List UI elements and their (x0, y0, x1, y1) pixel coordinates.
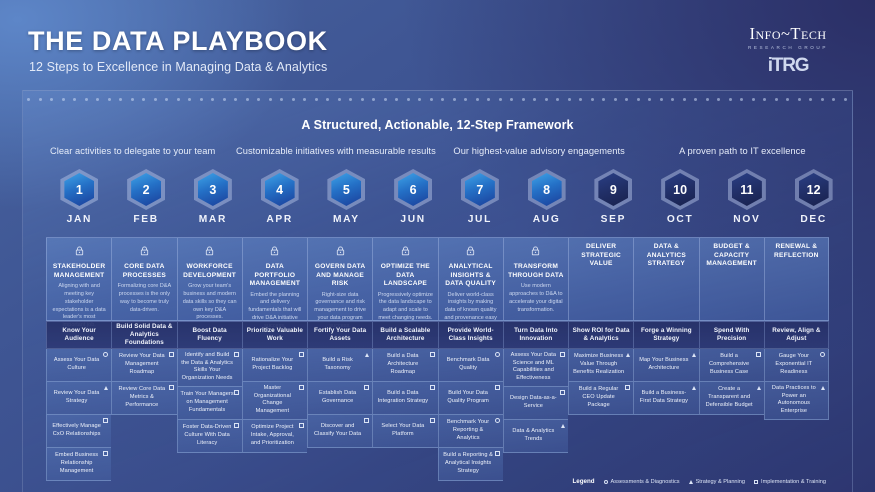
purpose-card[interactable]: ANALYTICAL INSIGHTS & DATA QUALITYDelive… (438, 237, 503, 321)
square-marker-icon (430, 385, 435, 390)
purpose-card[interactable]: TRANSFORM THROUGH DATAUse modern approac… (503, 237, 568, 321)
month-label: JUN (400, 214, 425, 225)
initiative-label: Gauge Your Exponential IT Readiness (768, 353, 820, 376)
initiative-list: Build a Data Architecture RoadmapBuild a… (372, 349, 437, 448)
initiative-card[interactable]: Benchmark Data Quality (438, 349, 503, 382)
theme-band[interactable]: Build a Scalable Architecture (372, 321, 437, 349)
logo-tagline: RESEARCH GROUP (723, 45, 853, 50)
triangle-marker-icon (821, 386, 825, 390)
purpose-title: WORKFORCE DEVELOPMENT (182, 263, 238, 280)
hex-badge[interactable]: 12 (795, 169, 833, 210)
step-column-8: TRANSFORM THROUGH DATAUse modern approac… (503, 237, 568, 492)
initiative-label: Create a Transparent and Defensible Budg… (703, 386, 756, 409)
legend-item: Strategy & Planning (689, 479, 745, 485)
month-step-may[interactable]: 5MAY (313, 169, 380, 231)
perforation-strip (23, 95, 852, 104)
square-marker-icon (103, 451, 108, 456)
square-marker-icon (299, 352, 304, 357)
step-column-12: RENEWAL & REFLECTIONReview, Align & Adju… (764, 237, 829, 492)
purpose-card[interactable]: GOVERN DATA AND MANAGE RISKRight-size da… (307, 237, 372, 321)
initiative-label: Build a Business-First Data Strategy (637, 390, 690, 405)
initiative-card[interactable]: Rationalize Your Project Backlog (242, 349, 307, 382)
initiative-list: Maximize Business Value Through Benefits… (568, 349, 633, 415)
purpose-card[interactable]: DATA & ANALYTICS STRATEGY (633, 237, 698, 321)
perforation-dot (372, 98, 375, 101)
initiative-card[interactable]: Build Your Data Quality Program (438, 382, 503, 415)
triangle-marker-icon (692, 386, 696, 390)
perforation-dot (798, 98, 801, 101)
theme-label: Provide World-Class Insights (442, 327, 500, 343)
step-column-7: ANALYTICAL INSIGHTS & DATA QUALITYDelive… (438, 237, 503, 492)
brand-logo: Info~Tech RESEARCH GROUP iTRG (723, 24, 853, 77)
initiative-list: Rationalize Your Project BacklogMaster O… (242, 349, 307, 453)
legend: Legend Assessments & Diagnostics Strateg… (573, 478, 826, 485)
hex-badge[interactable]: 10 (661, 169, 699, 210)
perforation-dot (660, 98, 663, 101)
perforation-dot (453, 98, 456, 101)
month-label: NOV (733, 214, 760, 225)
perforation-dot (694, 98, 697, 101)
page-title: THE DATA PLAYBOOK (28, 26, 328, 57)
purpose-title: ANALYTICAL INSIGHTS & DATA QUALITY (443, 263, 499, 289)
perforation-dot (637, 98, 640, 101)
perforation-dot (683, 98, 686, 101)
perforation-dot (326, 98, 329, 101)
benefit-statement: Clear activities to delegate to your tea… (31, 146, 234, 156)
hex-badge[interactable]: 6 (394, 169, 432, 210)
poster-background: THE DATA PLAYBOOK 12 Steps to Excellence… (0, 0, 875, 492)
purpose-title: BUDGET & CAPACITY MANAGEMENT (704, 243, 760, 269)
perforation-dot (50, 98, 53, 101)
theme-band[interactable]: Provide World-Class Insights (438, 321, 503, 349)
initiative-card[interactable]: Build a Business-First Data Strategy (633, 382, 698, 415)
theme-band[interactable]: Fortify Your Data Assets (307, 321, 372, 349)
square-marker-icon (495, 451, 500, 456)
initiative-card[interactable]: Discover and Classify Your Data (307, 415, 372, 448)
initiative-label: Design Data-as-a-Service (507, 395, 560, 410)
initiative-card[interactable]: Design Data-as-a-Service (503, 387, 568, 420)
initiative-list: Review Your Data Management RoadmapRevie… (111, 349, 176, 415)
initiative-card[interactable]: Assess Your Data Science and ML Capabili… (503, 349, 568, 387)
initiative-list: Assess Your Data CultureReview Your Data… (46, 349, 111, 481)
initiative-card[interactable]: Train Your Managers on Management Fundam… (177, 387, 242, 420)
circle-marker-icon (495, 418, 500, 423)
theme-label: Know Your Audience (50, 327, 108, 343)
perforation-dot (464, 98, 467, 101)
legend-item: Assessments & Diagnostics (604, 479, 680, 485)
month-step-jan[interactable]: 1JAN (46, 169, 113, 231)
perforation-dot (568, 98, 571, 101)
hex-badge[interactable]: 4 (261, 169, 299, 210)
square-marker-icon (234, 390, 239, 395)
hex-badge[interactable]: 2 (127, 169, 165, 210)
perforation-dot (165, 98, 168, 101)
initiative-label: Establish Data Governance (311, 390, 364, 405)
month-label: JUL (468, 214, 492, 225)
perforation-dot (556, 98, 559, 101)
initiative-card[interactable]: Map Your Business Architecture (633, 349, 698, 382)
perforation-dot (763, 98, 766, 101)
perforation-dot (223, 98, 226, 101)
initiative-list: Build a Risk TaxonomyEstablish Data Gove… (307, 349, 372, 448)
perforation-dot (706, 98, 709, 101)
perforation-dot (188, 98, 191, 101)
step-column-1: STAKEHOLDER MANAGEMENTAligning with and … (46, 237, 111, 492)
perforation-dot (844, 98, 847, 101)
perforation-dot (269, 98, 272, 101)
initiative-label: Review Your Data Strategy (50, 390, 103, 405)
perforation-dot (211, 98, 214, 101)
benefits-row: Clear activities to delegate to your tea… (31, 146, 844, 156)
theme-label: Turn Data Into Innovation (507, 327, 565, 343)
perforation-dot (614, 98, 617, 101)
legend-item: Implementation & Training (754, 479, 826, 485)
perforation-dot (246, 98, 249, 101)
purpose-title: OPTIMIZE THE DATA LANDSCAPE (377, 263, 433, 289)
purpose-card[interactable]: DELIVER STRATEGIC VALUE (568, 237, 633, 321)
lock-icon (140, 243, 149, 261)
circle-marker-icon (103, 352, 108, 357)
initiative-label: Select Your Data Platform (376, 423, 429, 438)
purpose-description: Grow your team's business and modern dat… (182, 283, 238, 322)
square-marker-icon (495, 385, 500, 390)
initiative-label: Data & Analytics Trends (507, 428, 560, 443)
month-label: APR (266, 214, 293, 225)
purpose-description: Use modern approaches to D&A to accelera… (508, 283, 564, 314)
initiative-label: Build a Reporting & Analytical Insights … (442, 452, 495, 475)
square-marker-icon (364, 385, 369, 390)
purpose-card[interactable]: WORKFORCE DEVELOPMENTGrow your team's bu… (177, 237, 242, 321)
initiative-label: Build a Data Integration Strategy (376, 390, 429, 405)
initiative-card[interactable]: Foster Data-Driven Culture With Data Lit… (177, 420, 242, 453)
month-label: DEC (800, 214, 827, 225)
month-label: JAN (67, 214, 92, 225)
perforation-dot (809, 98, 812, 101)
lock-icon (270, 243, 279, 261)
month-label: AUG (533, 214, 561, 225)
circle-marker-icon (495, 352, 500, 357)
initiative-card[interactable]: Gauge Your Exponential IT Readiness (764, 349, 829, 382)
legend-item-label: Assessments & Diagnostics (611, 479, 680, 485)
square-marker-icon (756, 352, 761, 357)
theme-band[interactable]: Turn Data Into Innovation (503, 321, 568, 349)
hex-badge[interactable]: 1 (60, 169, 98, 210)
perforation-dot (510, 98, 513, 101)
initiative-card[interactable]: Build a Data Integration Strategy (372, 382, 437, 415)
perforation-dot (119, 98, 122, 101)
theme-label: Show ROI for Data & Analytics (572, 327, 630, 343)
framework-panel: A Structured, Actionable, 12-Step Framew… (22, 90, 853, 492)
month-label: OCT (667, 214, 694, 225)
square-marker-icon (234, 352, 239, 357)
initiative-card[interactable]: Establish Data Governance (307, 382, 372, 415)
initiative-list: Assess Your Data Science and ML Capabili… (503, 349, 568, 453)
perforation-dot (441, 98, 444, 101)
perforation-dot (522, 98, 525, 101)
initiative-card[interactable]: Identify and Build the Data & Analytics … (177, 349, 242, 387)
perforation-dot (740, 98, 743, 101)
square-marker-icon (754, 480, 758, 484)
benefit-statement: Customizable initiatives with measurable… (234, 146, 437, 156)
purpose-title: DELIVER STRATEGIC VALUE (573, 243, 629, 269)
initiative-card[interactable]: Select Your Data Platform (372, 415, 437, 448)
triangle-marker-icon (365, 353, 369, 357)
perforation-dot (499, 98, 502, 101)
theme-label: Prioritize Valuable Work (246, 327, 304, 343)
step-column-4: DATA PORTFOLIO MANAGEMENTEmbed the plann… (242, 237, 307, 492)
purpose-card[interactable]: BUDGET & CAPACITY MANAGEMENT (699, 237, 764, 321)
triangle-marker-icon (561, 424, 565, 428)
hex-badge[interactable]: 3 (194, 169, 232, 210)
logo-wordmark: Info~Tech (723, 24, 853, 44)
purpose-card[interactable]: RENEWAL & REFLECTION (764, 237, 829, 321)
initiative-card[interactable]: Review Your Data Strategy (46, 382, 111, 415)
purpose-description: Formalizing core D&A processes is the on… (116, 283, 172, 314)
initiative-label: Optimize Project Intake, Approval, and P… (246, 424, 299, 447)
initiative-card[interactable]: Effectively Manage CxO Relationships (46, 415, 111, 448)
perforation-dot (27, 98, 30, 101)
initiative-card[interactable]: Build a Regular CEO Update Package (568, 382, 633, 415)
perforation-dot (234, 98, 237, 101)
initiative-card[interactable]: Review Core Data Metrics & Performance (111, 382, 176, 415)
theme-band[interactable]: Prioritize Valuable Work (242, 321, 307, 349)
perforation-dot (292, 98, 295, 101)
initiative-card[interactable]: Benchmark Your Reporting & Analytics (438, 415, 503, 448)
theme-label: Boost Data Fluency (181, 327, 239, 343)
initiative-label: Rationalize Your Project Backlog (246, 357, 299, 372)
step-column-3: WORKFORCE DEVELOPMENTGrow your team's bu… (177, 237, 242, 492)
initiative-list: Map Your Business ArchitectureBuild a Bu… (633, 349, 698, 415)
purpose-title: CORE DATA PROCESSES (116, 263, 172, 280)
month-step-mar[interactable]: 3MAR (180, 169, 247, 231)
initiative-label: Discover and Classify Your Data (311, 423, 364, 438)
perforation-dot (832, 98, 835, 101)
theme-band[interactable]: Show ROI for Data & Analytics (568, 321, 633, 349)
perforation-dot (39, 98, 42, 101)
theme-label: Spend With Precision (703, 327, 761, 343)
hex-badge[interactable]: 9 (594, 169, 632, 210)
initiative-label: Map Your Business Architecture (637, 357, 690, 372)
benefit-statement: Our highest-value advisory engagements (438, 146, 641, 156)
initiative-label: Review Core Data Metrics & Performance (115, 386, 168, 409)
perforation-dot (108, 98, 111, 101)
initiative-label: Assess Your Data Science and ML Capabili… (507, 352, 560, 383)
perforation-dot (96, 98, 99, 101)
lock-icon (140, 246, 149, 256)
lock-icon (205, 243, 214, 261)
perforation-dot (315, 98, 318, 101)
month-step-feb[interactable]: 2FEB (113, 169, 180, 231)
initiative-label: Foster Data-Driven Culture With Data Lit… (181, 424, 234, 447)
lock-icon (466, 246, 475, 256)
purpose-title: DATA & ANALYTICS STRATEGY (638, 243, 694, 269)
perforation-dot (602, 98, 605, 101)
step-column-10: DATA & ANALYTICS STRATEGYForge a Winning… (633, 237, 698, 492)
month-step-dec[interactable]: 12DEC (780, 169, 847, 231)
theme-label: Review, Align & Adjust (768, 327, 825, 343)
initiative-label: Maximize Business Value Through Benefits… (572, 353, 625, 376)
lock-icon (336, 246, 345, 256)
perforation-dot (384, 98, 387, 101)
initiative-label: Identify and Build the Data & Analytics … (181, 352, 234, 383)
perforation-dot (73, 98, 76, 101)
page-subtitle: 12 Steps to Excellence in Managing Data … (29, 60, 327, 74)
step-column-6: OPTIMIZE THE DATA LANDSCAPEProgressively… (372, 237, 437, 492)
perforation-dot (430, 98, 433, 101)
legend-item-label: Strategy & Planning (696, 479, 745, 485)
purpose-title: RENEWAL & REFLECTION (769, 243, 824, 260)
perforation-dot (775, 98, 778, 101)
purpose-card[interactable]: STAKEHOLDER MANAGEMENTAligning with and … (46, 237, 111, 321)
perforation-dot (131, 98, 134, 101)
benefit-statement: A proven path to IT excellence (641, 146, 844, 156)
perforation-dot (579, 98, 582, 101)
perforation-dot (487, 98, 490, 101)
hex-badge[interactable]: 7 (461, 169, 499, 210)
lock-icon (336, 243, 345, 261)
perforation-dot (303, 98, 306, 101)
initiative-list: Gauge Your Exponential IT ReadinessData … (764, 349, 829, 420)
initiative-label: Build a Data Architecture Roadmap (376, 353, 429, 376)
purpose-card[interactable]: DATA PORTFOLIO MANAGEMENTEmbed the plann… (242, 237, 307, 321)
triangle-marker-icon (757, 386, 761, 390)
month-step-sep[interactable]: 9SEP (580, 169, 647, 231)
twelve-step-grid: STAKEHOLDER MANAGEMENTAligning with and … (46, 237, 829, 492)
perforation-dot (257, 98, 260, 101)
hex-badge[interactable]: 8 (528, 169, 566, 210)
initiative-label: Assess Your Data Culture (50, 357, 103, 372)
perforation-dot (62, 98, 65, 101)
initiative-card[interactable]: Review Your Data Management Roadmap (111, 349, 176, 382)
hex-badge[interactable]: 5 (327, 169, 365, 210)
square-marker-icon (103, 418, 108, 423)
square-marker-icon (625, 385, 630, 390)
square-marker-icon (560, 352, 565, 357)
triangle-marker-icon (104, 386, 108, 390)
purpose-title: STAKEHOLDER MANAGEMENT (51, 263, 107, 280)
perforation-dot (418, 98, 421, 101)
lock-icon (531, 243, 540, 261)
square-marker-icon (299, 423, 304, 428)
perforation-dot (625, 98, 628, 101)
month-step-oct[interactable]: 10OCT (647, 169, 714, 231)
perforation-dot (361, 98, 364, 101)
month-label: FEB (133, 214, 158, 225)
perforation-dot (154, 98, 157, 101)
initiative-card[interactable]: Build a Risk Taxonomy (307, 349, 372, 382)
initiative-list: Benchmark Data QualityBuild Your Data Qu… (438, 349, 503, 481)
theme-label: Build Solid Data & Analytics Foundations (115, 323, 173, 347)
perforation-dot (786, 98, 789, 101)
initiative-card[interactable]: Build a Reporting & Analytical Insights … (438, 448, 503, 481)
legend-title: Legend (573, 478, 595, 485)
purpose-title: GOVERN DATA AND MANAGE RISK (312, 263, 368, 289)
triangle-marker-icon (692, 353, 696, 357)
triangle-marker-icon (626, 353, 630, 357)
theme-label: Build a Scalable Architecture (376, 327, 434, 343)
initiative-card[interactable]: Data Practices to Power an Autonomous En… (764, 382, 829, 420)
initiative-label: Data Practices to Power an Autonomous En… (768, 385, 820, 416)
logo-mark-itrg: iTRG (723, 55, 853, 77)
perforation-dot (349, 98, 352, 101)
perforation-dot (476, 98, 479, 101)
step-column-11: BUDGET & CAPACITY MANAGEMENTSpend With P… (699, 237, 764, 492)
theme-band[interactable]: Review, Align & Adjust (764, 321, 829, 349)
square-marker-icon (299, 385, 304, 390)
initiative-card[interactable]: Create a Transparent and Defensible Budg… (699, 382, 764, 415)
month-step-aug[interactable]: 8AUG (513, 169, 580, 231)
month-label: MAY (333, 214, 360, 225)
initiative-label: Embed Business Relationship Management (50, 452, 103, 475)
initiative-card[interactable]: Build a Data Architecture Roadmap (372, 349, 437, 382)
step-column-9: DELIVER STRATEGIC VALUEShow ROI for Data… (568, 237, 633, 492)
perforation-dot (85, 98, 88, 101)
theme-band[interactable]: Boost Data Fluency (177, 321, 242, 349)
month-step-apr[interactable]: 4APR (246, 169, 313, 231)
month-step-jul[interactable]: 7JUL (447, 169, 514, 231)
initiative-label: Effectively Manage CxO Relationships (50, 423, 103, 438)
theme-band[interactable]: Spend With Precision (699, 321, 764, 349)
triangle-marker-icon (689, 480, 693, 484)
hex-badge[interactable]: 11 (728, 169, 766, 210)
initiative-label: Train Your Managers on Management Fundam… (181, 391, 234, 414)
initiative-list: Build a Comprehensive Business CaseCreat… (699, 349, 764, 415)
circle-marker-icon (604, 480, 608, 484)
square-marker-icon (234, 423, 239, 428)
initiative-card[interactable]: Maximize Business Value Through Benefits… (568, 349, 633, 382)
poster-header: THE DATA PLAYBOOK 12 Steps to Excellence… (0, 0, 875, 90)
purpose-card[interactable]: CORE DATA PROCESSESFormalizing core D&A … (111, 237, 176, 321)
theme-band[interactable]: Know Your Audience (46, 321, 111, 349)
initiative-card[interactable]: Master Organizational Change Management (242, 382, 307, 420)
theme-band[interactable]: Build Solid Data & Analytics Foundations (111, 321, 176, 349)
theme-band[interactable]: Forge a Winning Strategy (633, 321, 698, 349)
perforation-dot (752, 98, 755, 101)
framework-tagline: A Structured, Actionable, 12-Step Framew… (23, 118, 852, 132)
square-marker-icon (430, 352, 435, 357)
purpose-title: TRANSFORM THROUGH DATA (508, 263, 564, 280)
perforation-dot (280, 98, 283, 101)
initiative-label: Build a Comprehensive Business Case (703, 353, 756, 376)
month-step-nov[interactable]: 11NOV (714, 169, 781, 231)
initiative-card[interactable]: Build a Comprehensive Business Case (699, 349, 764, 382)
initiative-label: Review Your Data Management Roadmap (115, 353, 168, 376)
initiative-card[interactable]: Optimize Project Intake, Approval, and P… (242, 420, 307, 453)
perforation-dot (177, 98, 180, 101)
perforation-dot (200, 98, 203, 101)
lock-icon (205, 246, 214, 256)
initiative-label: Build a Risk Taxonomy (311, 357, 364, 372)
lock-icon (531, 246, 540, 256)
square-marker-icon (364, 418, 369, 423)
step-column-5: GOVERN DATA AND MANAGE RISKRight-size da… (307, 237, 372, 492)
square-marker-icon (430, 418, 435, 423)
initiative-card[interactable]: Data & Analytics Trends (503, 420, 568, 453)
circle-marker-icon (820, 352, 825, 357)
month-step-jun[interactable]: 6JUN (380, 169, 447, 231)
lock-icon (270, 246, 279, 256)
perforation-dot (717, 98, 720, 101)
perforation-dot (591, 98, 594, 101)
initiative-card[interactable]: Embed Business Relationship Management (46, 448, 111, 481)
square-marker-icon (560, 390, 565, 395)
lock-icon (466, 243, 475, 261)
square-marker-icon (169, 352, 174, 357)
theme-label: Forge a Winning Strategy (637, 327, 695, 343)
purpose-card[interactable]: OPTIMIZE THE DATA LANDSCAPEProgressively… (372, 237, 437, 321)
square-marker-icon (169, 385, 174, 390)
initiative-card[interactable]: Assess Your Data Culture (46, 349, 111, 382)
